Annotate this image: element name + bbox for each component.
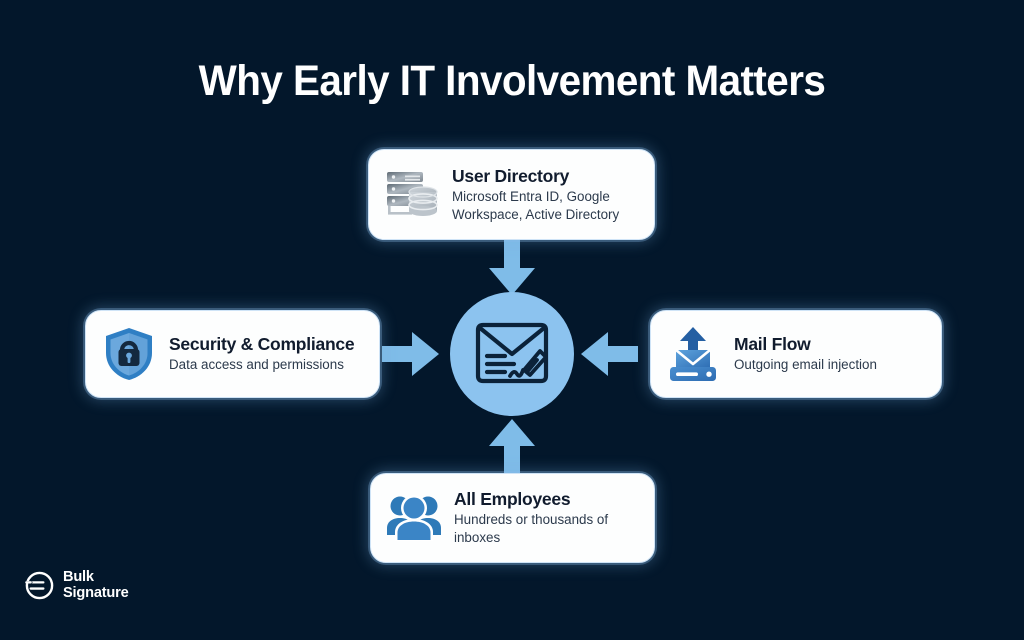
- card-subtitle: Hundreds or thousands of inboxes: [454, 511, 636, 547]
- card-title: All Employees: [454, 489, 640, 509]
- arrow-right-to-center: [580, 332, 638, 376]
- arrow-top-to-center: [489, 238, 535, 296]
- arrow-left-to-center: [382, 332, 440, 376]
- card-text-block: Mail Flow Outgoing email injection: [734, 334, 927, 374]
- card-text-block: All Employees Hundreds or thousands of i…: [454, 489, 640, 547]
- card-subtitle: Data access and permissions: [169, 356, 365, 374]
- people-group-icon: [385, 489, 443, 547]
- node-card-mail-flow[interactable]: Mail Flow Outgoing email injection: [650, 310, 942, 398]
- card-title: Security & Compliance: [169, 334, 365, 354]
- card-title: Mail Flow: [734, 334, 927, 354]
- page-title: Why Early IT Involvement Matters: [31, 57, 994, 106]
- card-text-block: Security & Compliance Data access and pe…: [169, 334, 365, 374]
- card-text-block: User Directory Microsoft Entra ID, Googl…: [452, 166, 640, 224]
- card-subtitle: Outgoing email injection: [734, 356, 927, 374]
- server-database-icon: [383, 166, 441, 224]
- brand-line-2: Signature: [63, 586, 129, 601]
- node-card-all-employees[interactable]: All Employees Hundreds or thousands of i…: [370, 473, 655, 563]
- card-title: User Directory: [452, 166, 640, 186]
- node-card-user-directory[interactable]: User Directory Microsoft Entra ID, Googl…: [368, 149, 655, 240]
- envelope-signature-icon: [472, 318, 552, 390]
- diagram-canvas: Why Early IT Involvement Matters: [0, 0, 1024, 640]
- center-hub-email-signature: [450, 292, 574, 416]
- arrow-bottom-to-center: [489, 419, 535, 477]
- brand-wordmark: Bulk Signature: [63, 570, 129, 600]
- brand-logo: Bulk Signature: [24, 570, 129, 601]
- shield-lock-icon: [100, 325, 158, 383]
- bulk-signature-logo-icon: [24, 570, 55, 601]
- mail-server-upload-icon: [665, 325, 723, 383]
- node-card-security-compliance[interactable]: Security & Compliance Data access and pe…: [85, 310, 380, 398]
- card-subtitle: Microsoft Entra ID, Google Workspace, Ac…: [452, 188, 634, 224]
- brand-line-1: Bulk: [63, 570, 129, 585]
